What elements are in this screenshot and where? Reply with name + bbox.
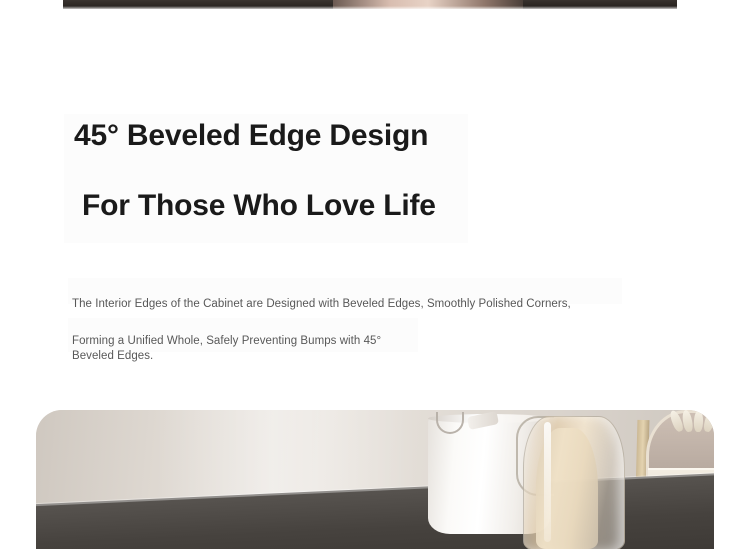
leaf-3 (694, 410, 704, 432)
photo-carafe-highlight (544, 422, 551, 542)
leaf-4 (702, 410, 714, 433)
cropped-banner-sliver (63, 0, 677, 9)
product-detail-page: 45° Beveled Edge Design For Those Who Lo… (0, 0, 750, 549)
headline-line-1: 45° Beveled Edge Design (74, 118, 634, 154)
leaf-2 (681, 410, 694, 433)
body-paragraph-2: Forming a Unified Whole, Safely Preventi… (72, 334, 402, 364)
photo-dried-leaves (672, 410, 714, 432)
kitchen-countertop-photo (36, 410, 714, 549)
headline-line-2: For Those Who Love Life (74, 188, 634, 224)
banner-bottom-fade (63, 6, 677, 9)
headline-block: 45° Beveled Edge Design For Those Who Lo… (74, 118, 634, 224)
body-paragraph-1: The Interior Edges of the Cabinet are De… (72, 297, 571, 312)
